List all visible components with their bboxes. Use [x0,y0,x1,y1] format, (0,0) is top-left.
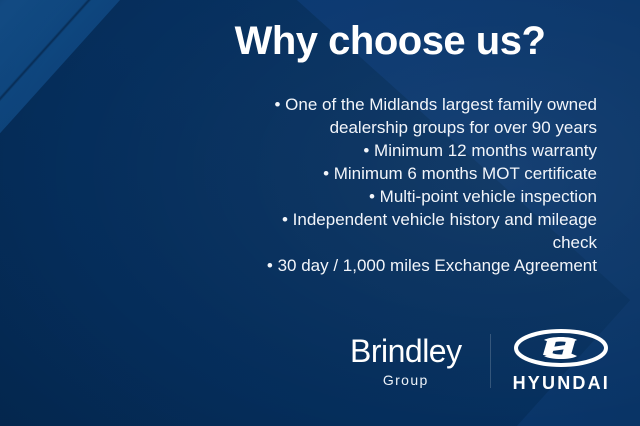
list-item: • One of the Midlands largest family own… [257,93,597,139]
benefits-list: • One of the Midlands largest family own… [257,93,597,277]
hyundai-wordmark: HYUNDAI [513,373,610,394]
slide-content: Why choose us? • One of the Midlands lar… [0,0,640,426]
list-item: • Minimum 6 months MOT certificate [257,162,597,185]
hyundai-logo: HYUNDAI [513,328,610,394]
list-item: • Minimum 12 months warranty [257,139,597,162]
promotional-slide: Why choose us? • One of the Midlands lar… [0,0,640,426]
hyundai-slanted-h-oval-icon [513,328,610,368]
logo-divider [490,334,491,388]
brindley-group-subtext: Group [350,373,462,387]
list-item: • 30 day / 1,000 miles Exchange Agreemen… [257,254,597,277]
brindley-wordmark: Brindley [350,335,462,367]
list-item: • Independent vehicle history and mileag… [257,208,597,254]
brindley-group-logo: Brindley Group [350,335,468,387]
page-title: Why choose us? [180,20,600,62]
logo-row: Brindley Group HYUNDAI [350,328,610,394]
list-item: • Multi-point vehicle inspection [257,185,597,208]
